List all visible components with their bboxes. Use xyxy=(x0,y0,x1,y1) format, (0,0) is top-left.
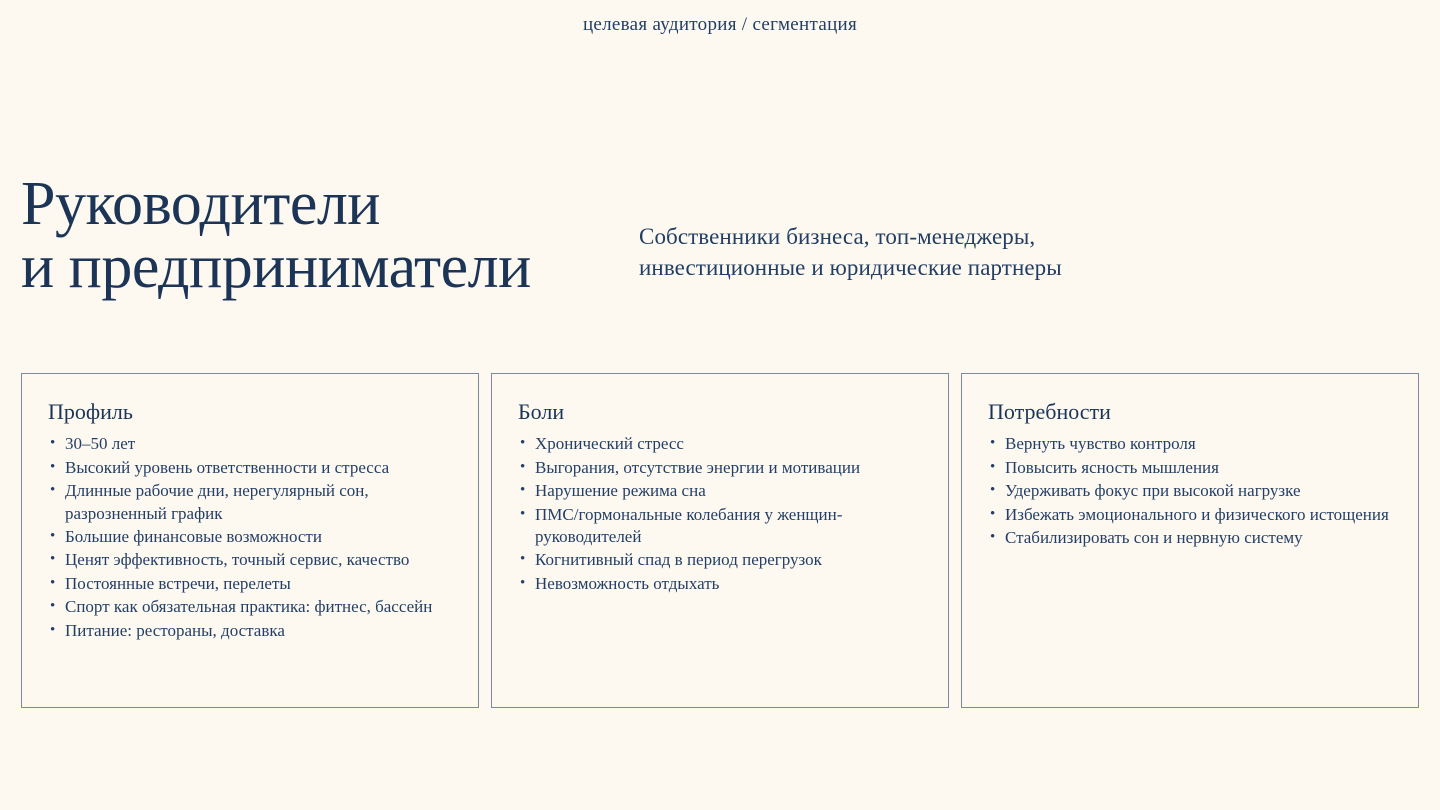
list-item: Большие финансовые возможности xyxy=(48,526,456,548)
list-item: 30–50 лет xyxy=(48,433,456,455)
card-profile-list: 30–50 летВысокий уровень ответственности… xyxy=(48,433,456,642)
list-item: Повысить ясность мышления xyxy=(988,457,1396,479)
list-item: ПМС/гормональные колебания у женщин-руко… xyxy=(518,504,926,549)
card-profile-title: Профиль xyxy=(48,400,456,424)
breadcrumb-eyebrow: целевая аудитория / сегментация xyxy=(0,14,1440,36)
list-item: Постоянные встречи, перелеты xyxy=(48,573,456,595)
slide-root: целевая аудитория / сегментация Руководи… xyxy=(0,0,1440,810)
list-item: Невозможность отдыхать xyxy=(518,573,926,595)
list-item: Ценят эффективность, точный сервис, каче… xyxy=(48,549,456,571)
list-item: Хронический стресс xyxy=(518,433,926,455)
list-item: Длинные рабочие дни, нерегулярный сон, р… xyxy=(48,480,456,525)
page-subtitle: Собственники бизнеса, топ-менеджеры, инв… xyxy=(639,222,1062,283)
list-item: Высокий уровень ответственности и стресс… xyxy=(48,457,456,479)
list-item: Спорт как обязательная практика: фитнес,… xyxy=(48,596,456,618)
card-pains-title: Боли xyxy=(518,400,926,424)
card-needs: Потребности Вернуть чувство контроляПовы… xyxy=(961,373,1419,708)
page-title: Руководители и предприниматели xyxy=(21,173,639,299)
list-item: Удерживать фокус при высокой нагрузке xyxy=(988,480,1396,502)
cards-row: Профиль 30–50 летВысокий уровень ответст… xyxy=(21,373,1419,708)
list-item: Питание: рестораны, доставка xyxy=(48,620,456,642)
card-profile: Профиль 30–50 летВысокий уровень ответст… xyxy=(21,373,479,708)
title-block: Руководители и предприниматели Собственн… xyxy=(21,173,1419,299)
list-item: Выгорания, отсутствие энергии и мотиваци… xyxy=(518,457,926,479)
card-needs-list: Вернуть чувство контроляПовысить ясность… xyxy=(988,433,1396,549)
card-needs-title: Потребности xyxy=(988,400,1396,424)
list-item: Избежать эмоционального и физического ис… xyxy=(988,504,1396,526)
list-item: Нарушение режима сна xyxy=(518,480,926,502)
card-pains: Боли Хронический стрессВыгорания, отсутс… xyxy=(491,373,949,708)
list-item: Стабилизировать сон и нервную систему xyxy=(988,527,1396,549)
card-pains-list: Хронический стрессВыгорания, отсутствие … xyxy=(518,433,926,595)
list-item: Когнитивный спад в период перегрузок xyxy=(518,549,926,571)
list-item: Вернуть чувство контроля xyxy=(988,433,1396,455)
